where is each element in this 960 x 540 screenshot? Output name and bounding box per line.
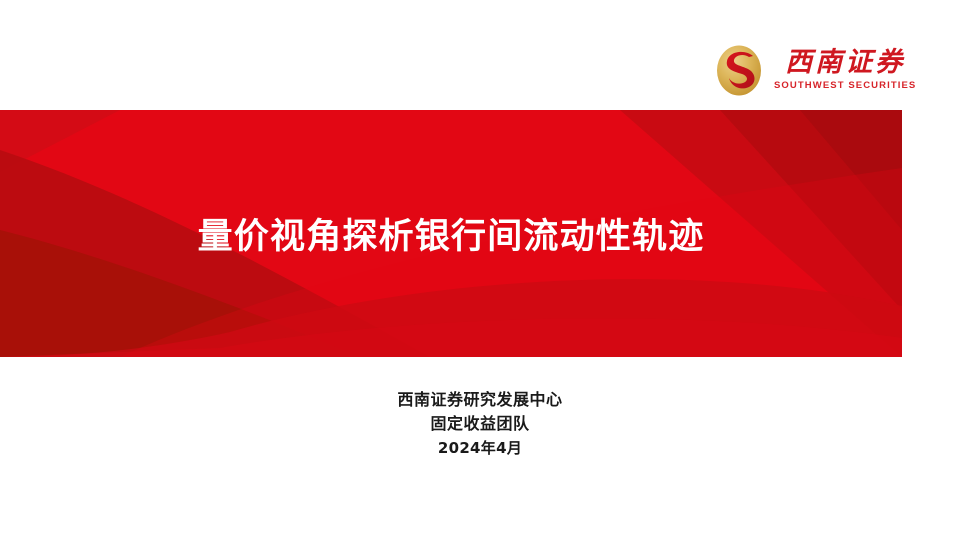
company-logo: 西南证券 SOUTHWEST SECURITIES — [714, 38, 910, 102]
slide-title: 量价视角探析银行间流动性轨迹 — [0, 110, 902, 357]
byline-team: 固定收益团队 — [0, 412, 960, 436]
byline-organization: 西南证券研究发展中心 — [0, 388, 960, 412]
title-slide: 西南证券 SOUTHWEST SECURITIES 量价视角探析银行间流动性轨迹 — [0, 0, 960, 540]
logo-company-name-en: SOUTHWEST SECURITIES — [774, 80, 916, 91]
byline-block: 西南证券研究发展中心 固定收益团队 2024年4月 — [0, 388, 960, 460]
byline-date: 2024年4月 — [0, 436, 960, 460]
logo-wordmark: 西南证券 SOUTHWEST SECURITIES — [774, 49, 916, 91]
logo-company-name-cn: 西南证券 — [785, 49, 905, 77]
title-banner: 量价视角探析银行间流动性轨迹 — [0, 110, 902, 357]
southwest-securities-emblem-icon — [714, 43, 764, 98]
